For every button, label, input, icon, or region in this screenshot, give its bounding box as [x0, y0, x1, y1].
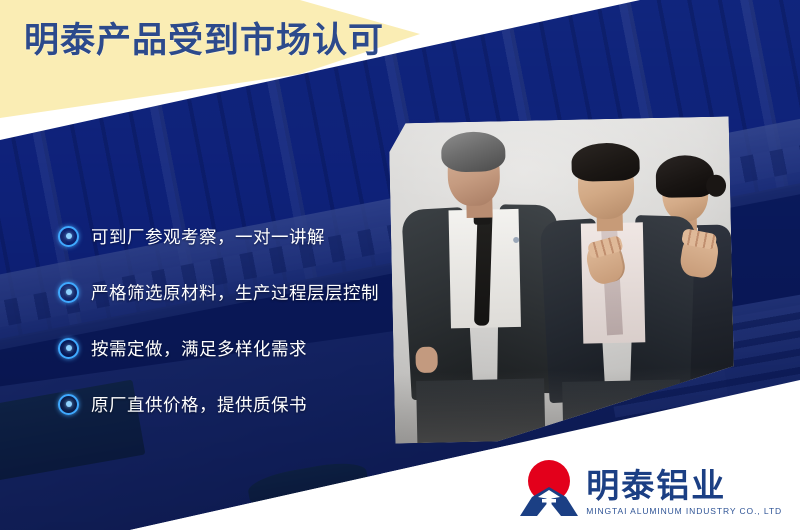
logo-blue-mountain-shape — [520, 486, 578, 516]
list-item: 可到厂参观考察，一对一讲解 — [58, 208, 388, 264]
logo-chinese-name: 明泰铝业 — [586, 469, 726, 502]
target-ring-icon — [58, 394, 79, 415]
list-item: 严格筛选原材料，生产过程层层控制 — [58, 264, 388, 320]
page-title: 明泰产品受到市场认可 — [24, 22, 384, 61]
list-item: 按需定做，满足多样化需求 — [58, 320, 388, 376]
feature-bullet-list: 可到厂参观考察，一对一讲解 严格筛选原材料，生产过程层层控制 按需定做，满足多样… — [58, 208, 388, 432]
bullet-label: 可到厂参观考察，一对一讲解 — [91, 224, 325, 249]
company-logo: 明泰铝业 MINGTAI ALUMINUM INDUSTRY CO., LTD — [520, 460, 782, 516]
logo-text-block: 明泰铝业 MINGTAI ALUMINUM INDUSTRY CO., LTD — [586, 469, 782, 516]
p1-hand — [415, 347, 438, 373]
bullet-label: 原厂直供价格，提供质保书 — [91, 392, 307, 417]
p1-hair — [441, 131, 506, 172]
target-ring-icon — [58, 338, 79, 359]
list-item: 原厂直供价格，提供质保书 — [58, 376, 388, 432]
promotional-banner: 明泰产品受到市场认可 可到厂参观考察，一对一讲解 严格筛选原材料，生产过程层层控… — [0, 0, 800, 530]
target-ring-icon — [58, 226, 79, 247]
mingtai-sun-mountain-logo-icon — [520, 460, 578, 516]
p1-lapel-pin — [513, 237, 519, 243]
p2-hair — [571, 142, 640, 181]
target-ring-icon — [58, 282, 79, 303]
bullet-label: 按需定做，满足多样化需求 — [91, 336, 307, 361]
logo-english-name: MINGTAI ALUMINUM INDUSTRY CO., LTD — [586, 506, 782, 516]
bullet-label: 严格筛选原材料，生产过程层层控制 — [91, 280, 379, 305]
p3-hair — [655, 155, 714, 198]
